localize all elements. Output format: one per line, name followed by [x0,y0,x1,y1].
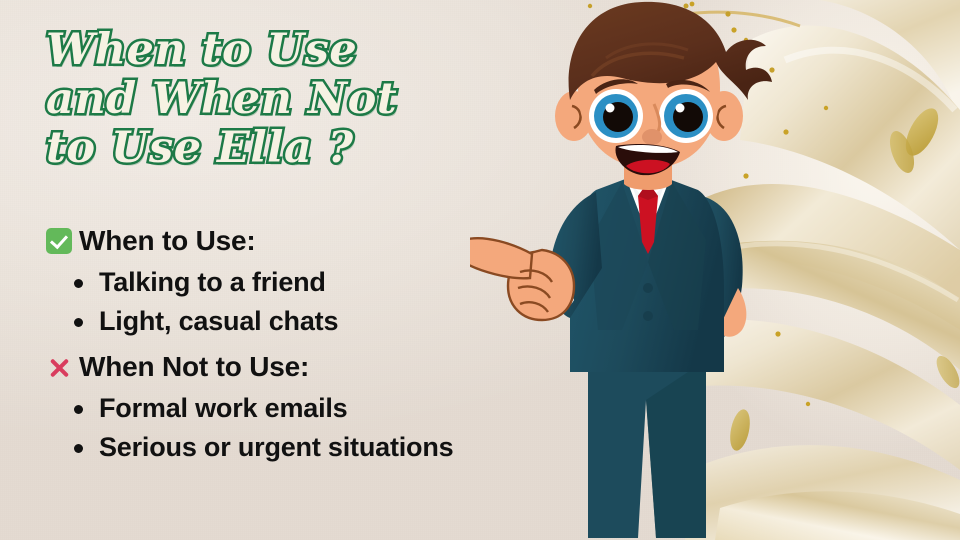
section-heading-when-to-use: When to Use: [46,222,496,260]
jacket-button [643,311,653,321]
green-check-icon [46,228,72,254]
boy-nose [642,129,662,145]
list-item: Formal work emails [72,389,496,428]
boy-eye-right [659,89,713,143]
boy-eye-left [589,89,643,143]
page-title: When to Use and When Not to Use Ella ? [46,26,516,173]
list-item: Serious or urgent situations [72,428,496,467]
jacket-button [643,283,653,293]
section-heading-when-not-to-use: When Not to Use: [46,348,496,386]
bullet-list-when-not-to-use: Formal work emails Serious or urgent sit… [46,389,496,467]
list-item: Talking to a friend [72,263,496,302]
red-cross-icon [46,355,72,381]
content-body: When to Use: Talking to a friend Light, … [46,222,496,469]
section-heading-label: When Not to Use: [79,348,309,386]
list-item: Light, casual chats [72,302,496,341]
section-heading-label: When to Use: [79,222,255,260]
bullet-list-when-to-use: Talking to a friend Light, casual chats [46,263,496,341]
cartoon-boy-pointing-illustration [470,0,830,540]
slide-canvas: When to Use and When Not to Use Ella ? W… [0,0,960,540]
